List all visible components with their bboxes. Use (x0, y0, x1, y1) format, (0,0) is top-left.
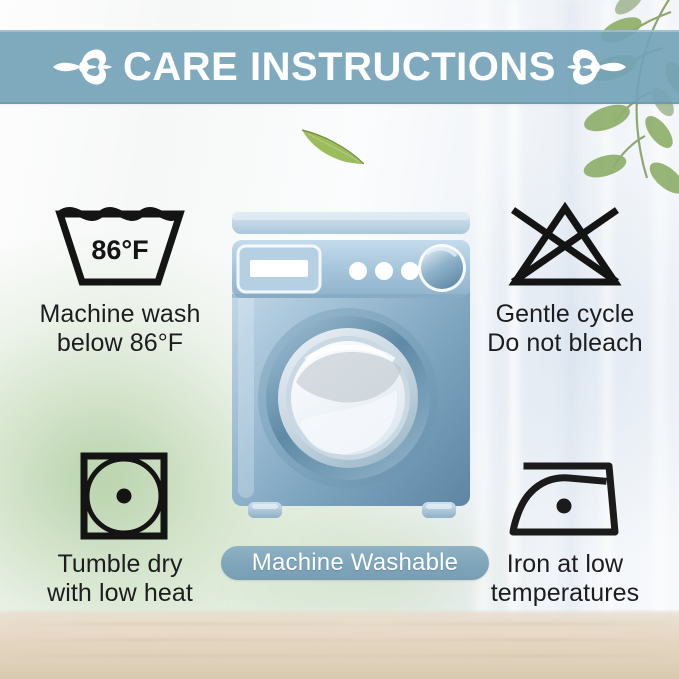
fleur-de-lis-icon (51, 40, 113, 94)
fleur-de-lis-icon (566, 40, 628, 94)
machine-washable-badge: Machine Washable (221, 546, 489, 580)
care-symbol-machine-wash: 86°F Machine wash below 86°F (10, 196, 230, 358)
floating-leaf (298, 120, 368, 168)
care-symbol-do-not-bleach: Gentle cycle Do not bleach (455, 196, 675, 358)
tumble-dry-low-icon (10, 446, 230, 546)
care-symbol-caption: Tumble dry with low heat (10, 550, 230, 608)
wash-temperature-label: 86°F (91, 235, 148, 265)
wash-tub-icon: 86°F (10, 196, 230, 296)
iron-low-icon (455, 446, 675, 546)
care-symbol-iron-low: Iron at low temperatures (455, 446, 675, 608)
no-bleach-triangle-icon (455, 196, 675, 296)
care-symbol-caption: Machine wash below 86°F (10, 300, 230, 358)
page-title: CARE INSTRUCTIONS (113, 47, 566, 87)
care-symbol-caption: Gentle cycle Do not bleach (455, 300, 675, 358)
washing-machine-illustration (226, 210, 476, 535)
wooden-table-surface (0, 609, 679, 679)
badge-label: Machine Washable (252, 551, 458, 575)
header-banner: CARE INSTRUCTIONS (0, 30, 679, 104)
care-symbol-tumble-dry: Tumble dry with low heat (10, 446, 230, 608)
